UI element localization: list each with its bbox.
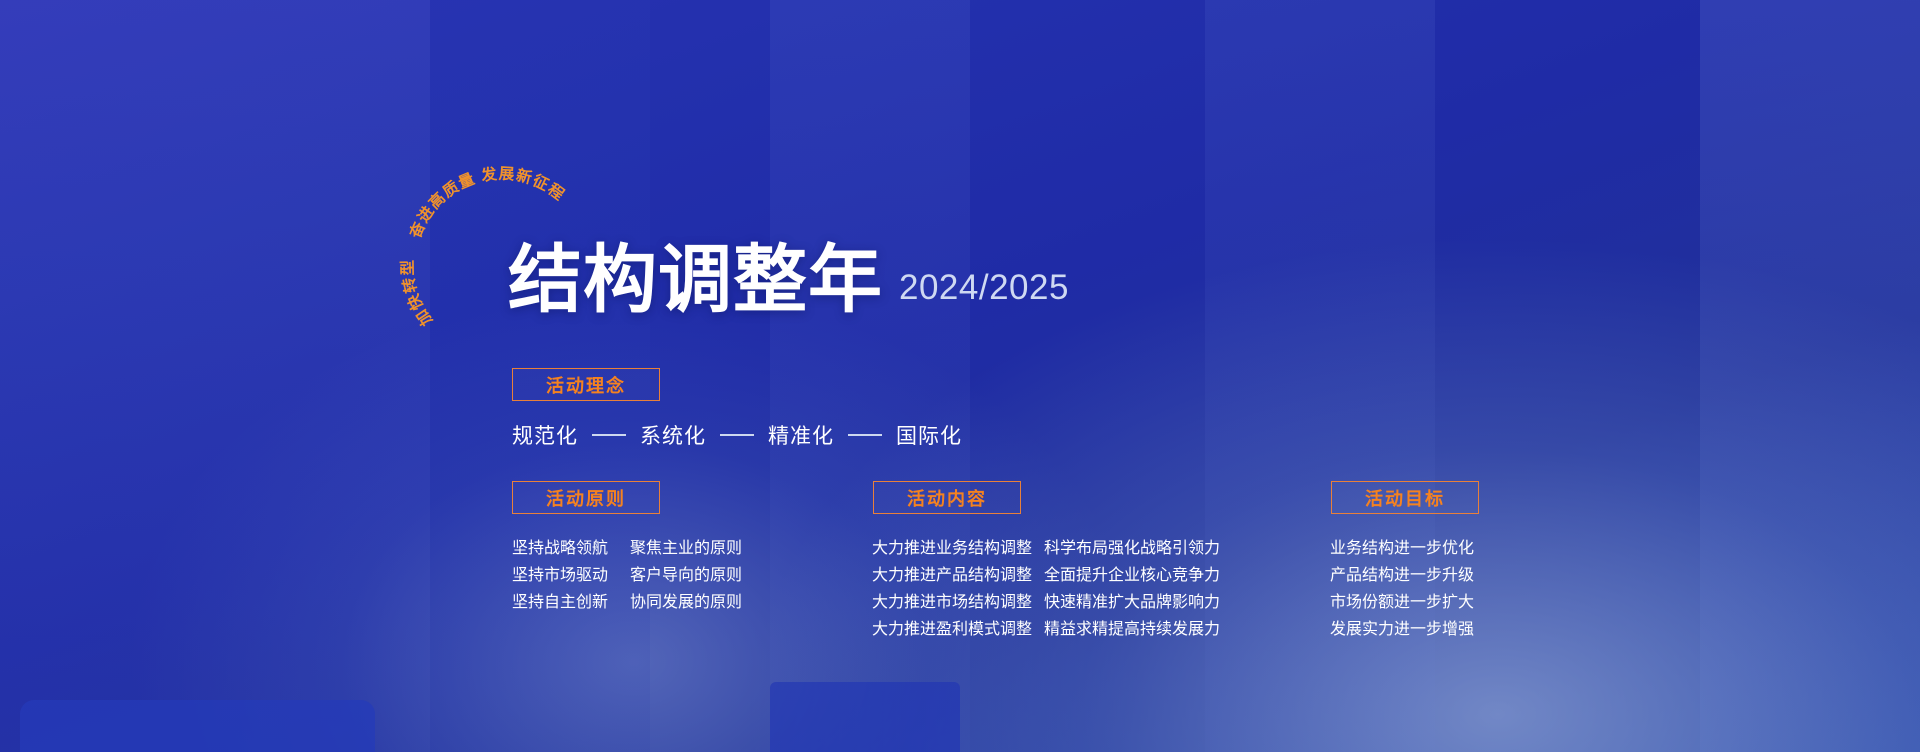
content-0-left: 大力推进业务结构调整 [872,535,1034,562]
list-item: 坚持市场驱动 客户导向的原则 [512,562,742,589]
badge-activity-goals: 活动目标 [1331,481,1479,514]
badge-activity-idea: 活动理念 [512,368,660,401]
concept-separator-icon [720,434,754,436]
contents-column: 大力推进业务结构调整 科学布局强化战略引领力 大力推进产品结构调整 全面提升企业… [872,535,1220,643]
concept-item-3: 国际化 [896,420,962,450]
principle-2-right: 协同发展的原则 [630,589,742,616]
concept-separator-icon [592,434,626,436]
concept-item-0: 规范化 [512,420,578,450]
principle-1-left: 坚持市场驱动 [512,562,620,589]
content-2-right: 快速精准扩大品牌影响力 [1044,589,1220,616]
content-3-right: 精益求精提高持续发展力 [1044,616,1220,643]
concept-item-1: 系统化 [640,420,706,450]
list-item: 业务结构进一步优化 [1330,535,1474,562]
list-item: 大力推进市场结构调整 快速精准扩大品牌影响力 [872,589,1220,616]
year-range: 2024/2025 [899,268,1069,308]
title-row: 结构调整年 2024/2025 [508,245,1069,316]
principle-2-left: 坚持自主创新 [512,589,620,616]
list-item: 大力推进盈利模式调整 精益求精提高持续发展力 [872,616,1220,643]
content-3-left: 大力推进盈利模式调整 [872,616,1034,643]
list-item: 发展实力进一步增强 [1330,616,1474,643]
concept-separator-icon [848,434,882,436]
principle-1-right: 客户导向的原则 [630,562,742,589]
list-item: 大力推进产品结构调整 全面提升企业核心竞争力 [872,562,1220,589]
content-1-left: 大力推进产品结构调整 [872,562,1034,589]
content-2-left: 大力推进市场结构调整 [872,589,1034,616]
goal-3: 发展实力进一步增强 [1330,616,1474,643]
concept-list: 规范化 系统化 精准化 国际化 [512,420,962,450]
goal-2: 市场份额进一步扩大 [1330,589,1474,616]
content-1-right: 全面提升企业核心竞争力 [1044,562,1220,589]
content-0-right: 科学布局强化战略引领力 [1044,535,1220,562]
goal-1: 产品结构进一步升级 [1330,562,1474,589]
goal-0: 业务结构进一步优化 [1330,535,1474,562]
list-item: 坚持自主创新 协同发展的原则 [512,589,742,616]
goals-column: 业务结构进一步优化 产品结构进一步升级 市场份额进一步扩大 发展实力进一步增强 [1330,535,1474,643]
list-item: 市场份额进一步扩大 [1330,589,1474,616]
principle-0-left: 坚持战略领航 [512,535,620,562]
list-item: 产品结构进一步升级 [1330,562,1474,589]
badge-activity-contents: 活动内容 [873,481,1021,514]
promo-banner: 奋进高质量 发展新征程 加快转型 增动能 结构调整年 2024/2025 活动理… [0,0,1920,752]
page-title: 结构调整年 [508,245,883,316]
principles-column: 坚持战略领航 聚焦主业的原则 坚持市场驱动 客户导向的原则 坚持自主创新 协同发… [512,535,742,616]
ring-text-top-path: 奋进高质量 发展新征程 [405,164,568,242]
badge-activity-principles: 活动原则 [512,481,660,514]
list-item: 大力推进业务结构调整 科学布局强化战略引领力 [872,535,1220,562]
list-item: 坚持战略领航 聚焦主业的原则 [512,535,742,562]
principle-0-right: 聚焦主业的原则 [630,535,742,562]
concept-item-2: 精准化 [768,420,834,450]
ring-text-top: 奋进高质量 发展新征程 [405,164,568,242]
